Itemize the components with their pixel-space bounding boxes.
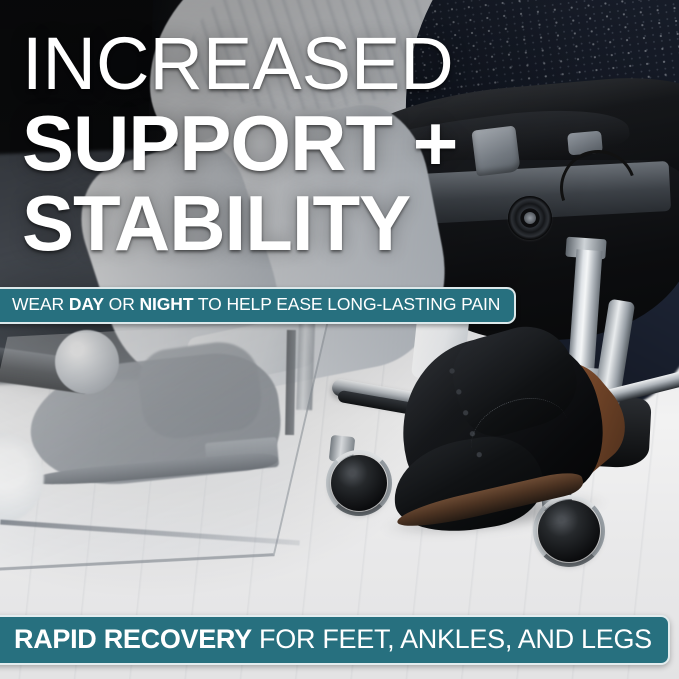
headline-line-3: STABILITY [22, 185, 457, 261]
chair-tension-knob [508, 196, 552, 240]
subtitle-suffix: TO HELP EASE LONG-LASTING PAIN [193, 294, 500, 314]
chair-caster-wheel-left [331, 455, 387, 511]
bottom-banner-text: RAPID RECOVERY FOR FEET, ANKLES, AND LEG… [14, 626, 652, 653]
headline-line-2: SUPPORT + [22, 105, 457, 181]
chair-adjust-lever [471, 125, 520, 176]
subtitle-banner-text: WEAR DAY OR NIGHT TO HELP EASE LONG-LAST… [12, 296, 500, 314]
subtitle-middle: OR [104, 294, 140, 314]
headline-line-1: INCREASED [22, 28, 457, 101]
bottom-banner: RAPID RECOVERY FOR FEET, ANKLES, AND LEG… [0, 615, 670, 665]
headline-group: INCREASED SUPPORT + STABILITY [22, 28, 457, 261]
subtitle-bold-night: NIGHT [140, 294, 194, 314]
subtitle-prefix: WEAR [12, 294, 69, 314]
product-lifestyle-poster: INCREASED SUPPORT + STABILITY WEAR DAY O… [0, 0, 679, 679]
bottom-banner-rest: FOR FEET, ANKLES, AND LEGS [252, 624, 652, 654]
subtitle-bold-day: DAY [69, 294, 104, 314]
bottom-banner-bold: RAPID RECOVERY [14, 624, 252, 654]
subtitle-banner: WEAR DAY OR NIGHT TO HELP EASE LONG-LAST… [0, 287, 516, 324]
